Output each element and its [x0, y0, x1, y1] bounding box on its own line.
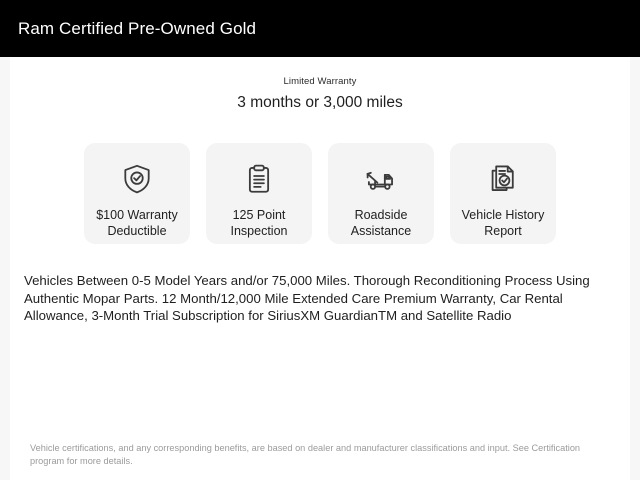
- shield-check-icon: [120, 162, 154, 196]
- footer-disclaimer: Vehicle certifications, and any correspo…: [30, 442, 610, 468]
- tow-truck-icon: [364, 162, 398, 196]
- benefit-card-vehicle-history[interactable]: Vehicle History Report: [450, 143, 556, 244]
- program-description: Vehicles Between 0-5 Model Years and/or …: [24, 272, 616, 325]
- benefit-card-point-inspection[interactable]: 125 Point Inspection: [206, 143, 312, 244]
- content-sheet: Limited Warranty 3 months or 3,000 miles…: [10, 57, 630, 480]
- benefit-card-label: Vehicle History Report: [453, 207, 553, 239]
- warranty-value: 3 months or 3,000 miles: [10, 93, 630, 113]
- warranty-summary: Limited Warranty 3 months or 3,000 miles: [10, 76, 630, 113]
- document-check-icon: [486, 162, 520, 196]
- benefit-card-label: $100 Warranty Deductible: [87, 207, 187, 239]
- benefit-card-label: 125 Point Inspection: [209, 207, 309, 239]
- clipboard-icon: [242, 162, 276, 196]
- warranty-label: Limited Warranty: [10, 76, 630, 88]
- page-header: Ram Certified Pre-Owned Gold: [0, 0, 640, 57]
- certified-preowned-panel: Ram Certified Pre-Owned Gold Limited War…: [0, 0, 640, 480]
- benefit-card-label: Roadside Assistance: [331, 207, 431, 239]
- benefit-card-warranty-deductible[interactable]: $100 Warranty Deductible: [84, 143, 190, 244]
- benefit-card-roadside-assistance[interactable]: Roadside Assistance: [328, 143, 434, 244]
- benefits-card-list: $100 Warranty Deductible 125 Point Inspe…: [10, 143, 630, 244]
- page-title: Ram Certified Pre-Owned Gold: [18, 18, 256, 39]
